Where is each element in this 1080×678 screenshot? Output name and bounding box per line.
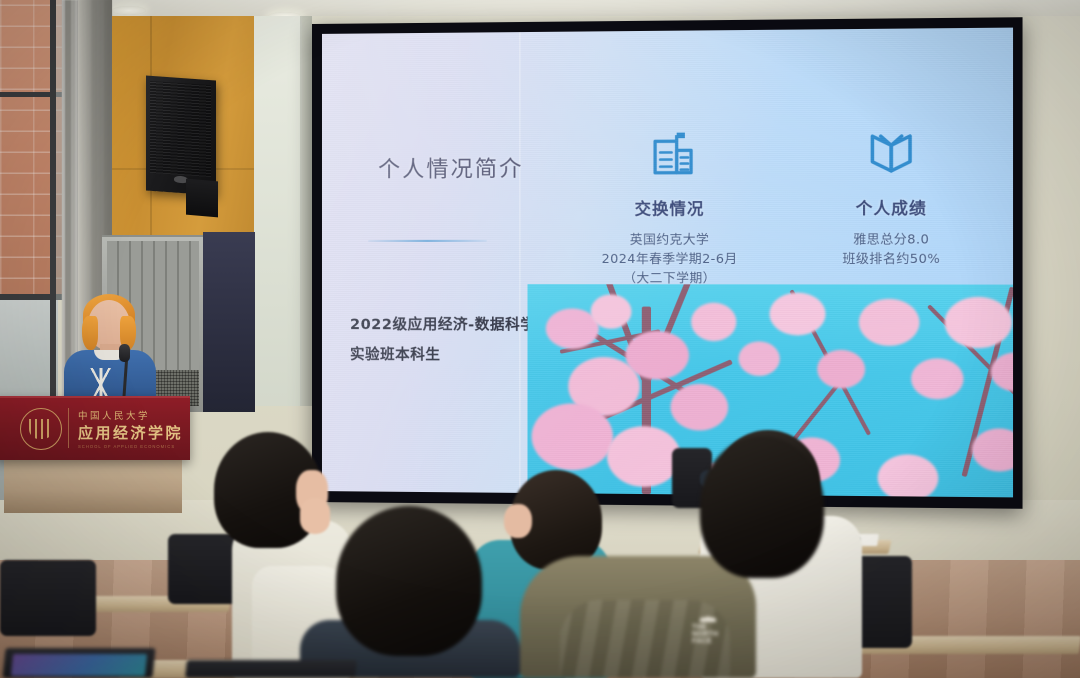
- column-line: 班级排名约50%: [782, 249, 1001, 269]
- footer-line: 2022级应用经济-数据科学: [350, 310, 548, 341]
- dark-cabinet: [203, 232, 255, 412]
- podium-school-name: 应用经济学院: [78, 422, 183, 443]
- attendee-northface-hair: [700, 436, 824, 578]
- title-divider-rule: [368, 240, 487, 242]
- attendee-teal-face: [504, 504, 532, 538]
- lecture-hall-photo: 个人情况简介: [0, 0, 1080, 678]
- column-title: 个人成绩: [782, 194, 1001, 219]
- column-title: 交换情况: [562, 195, 778, 220]
- wall-speaker: [146, 76, 216, 196]
- open-book-icon: [864, 127, 918, 180]
- slide-column-grades: 个人成绩 雅思总分8.0 班级排名约50%: [782, 126, 1001, 268]
- footer-line: 实验班本科生: [350, 340, 548, 371]
- north-face-logo-icon: [700, 610, 716, 622]
- projection-screen: 个人情况简介: [312, 17, 1023, 509]
- podium-divider: [68, 408, 69, 448]
- column-line: 2024年春季学期2-6月: [562, 249, 778, 268]
- podium-sign: 中国人民大学 应用经济学院 SCHOOL OF APPLIED ECONOMIC…: [0, 396, 190, 460]
- laptop[interactable]: [185, 660, 357, 678]
- laptop-screen[interactable]: [11, 654, 147, 676]
- slide-column-exchange: 交换情况 英国约克大学 2024年春季学期2-6月 （大二下学期）: [562, 128, 778, 288]
- slide-panel-seam: [519, 32, 520, 493]
- frosted-glass-panel: [254, 16, 302, 406]
- chair: [168, 534, 240, 604]
- presenter-hair-left: [82, 316, 98, 350]
- column-line: 英国约克大学: [562, 229, 778, 248]
- podium-university-name: 中国人民大学: [78, 408, 150, 422]
- attendee-center-hair: [336, 506, 482, 656]
- podium-romanized-subline: SCHOOL OF APPLIED ECONOMICS: [78, 444, 175, 449]
- speaker-mount-bracket: [186, 179, 218, 218]
- slide-footer-caption: 2022级应用经济-数据科学 实验班本科生: [350, 310, 548, 371]
- podium-base: [4, 455, 182, 513]
- glass-panel-edge: [300, 16, 312, 406]
- campus-building-icon: [643, 128, 696, 181]
- chair: [0, 560, 96, 636]
- slide-title: 个人情况简介: [378, 151, 523, 184]
- north-face-brand-label: THE NORTH FACE: [692, 624, 718, 645]
- ceiling-light: [112, 6, 146, 15]
- microphone-head: [119, 344, 130, 362]
- column-line: 雅思总分8.0: [782, 229, 1001, 249]
- presentation-slide: 个人情况简介: [322, 28, 1013, 498]
- university-seal-icon: [20, 408, 62, 450]
- attendee-left-hand: [300, 498, 330, 534]
